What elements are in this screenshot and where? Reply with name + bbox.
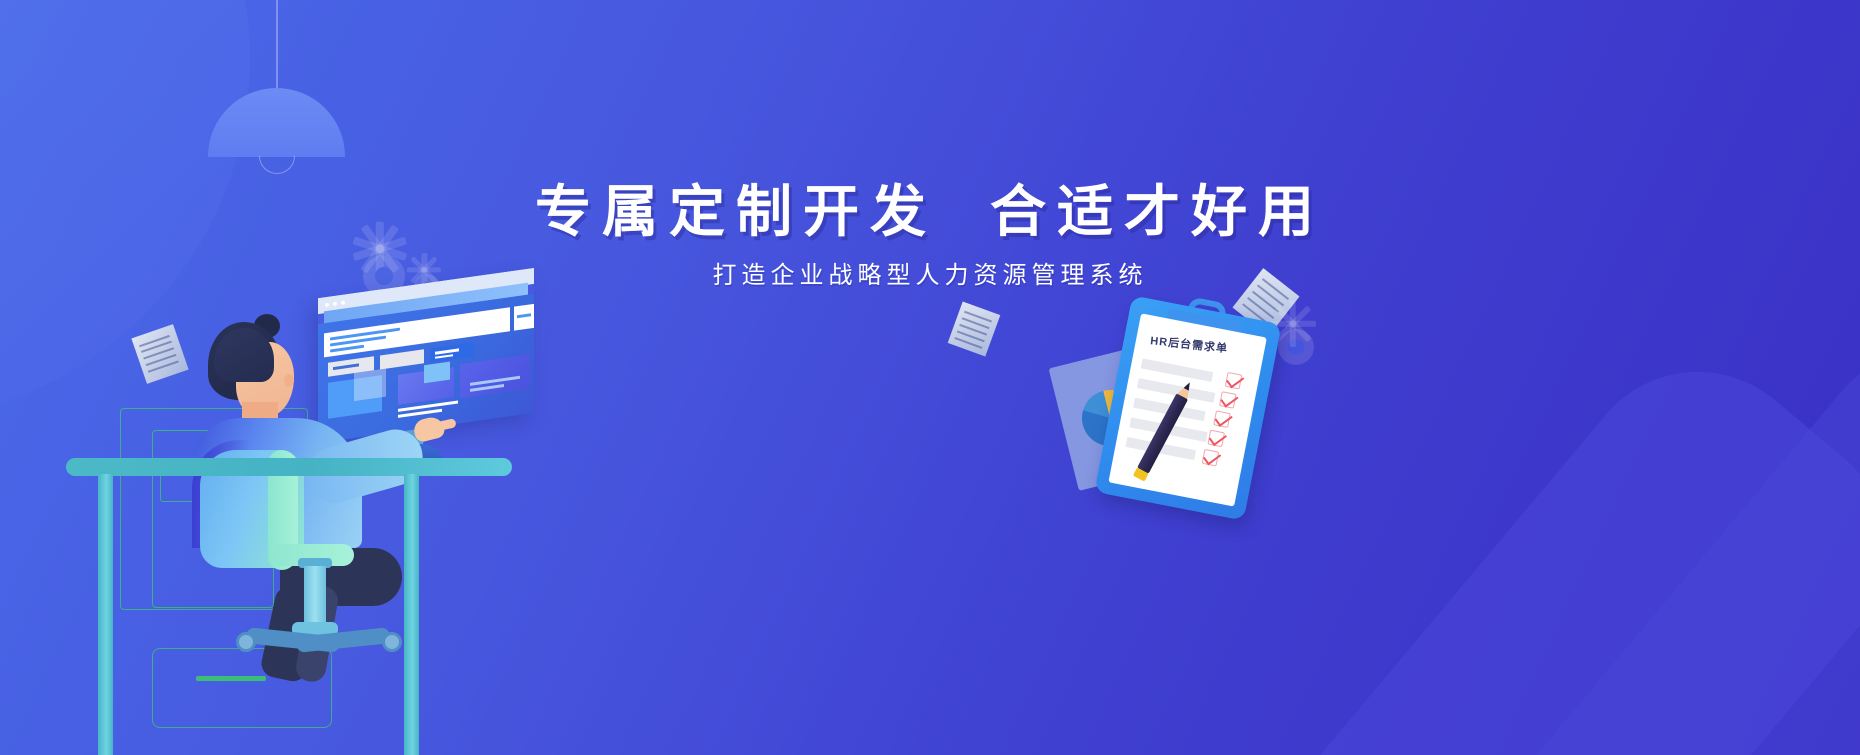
clipboard-title: HR后台需求单 [1150,332,1255,359]
hero-banner: 专属定制开发 合适才好用 打造企业战略型人力资源管理系统 [0,0,1860,755]
chair-caster [236,632,256,652]
subheadline-container: 打造企业战略型人力资源管理系统 [0,255,1860,290]
wireframe-bar [196,676,266,681]
clipboard: HR后台需求单 [1094,295,1281,520]
headline-container: 专属定制开发 合适才好用 [0,178,1860,245]
banner-subheadline: 打造企业战略型人力资源管理系统 [713,255,1148,290]
lamp-cord [276,0,278,90]
checklist-row [1141,358,1214,382]
chair-stem [304,566,326,628]
ear [284,374,294,387]
lamp-bulb-icon [259,156,295,174]
floating-paper-icon [948,301,1001,356]
desk-top [66,458,512,476]
desk-leg [98,474,113,755]
clipboard-illustration: HR后台需求单 [1060,290,1360,530]
banner-headline: 专属定制开发 合适才好用 [535,178,1325,245]
desk-leg [404,474,419,755]
chair-caster [382,632,402,652]
screen-side-card [514,304,534,331]
screen-tile [424,362,450,384]
